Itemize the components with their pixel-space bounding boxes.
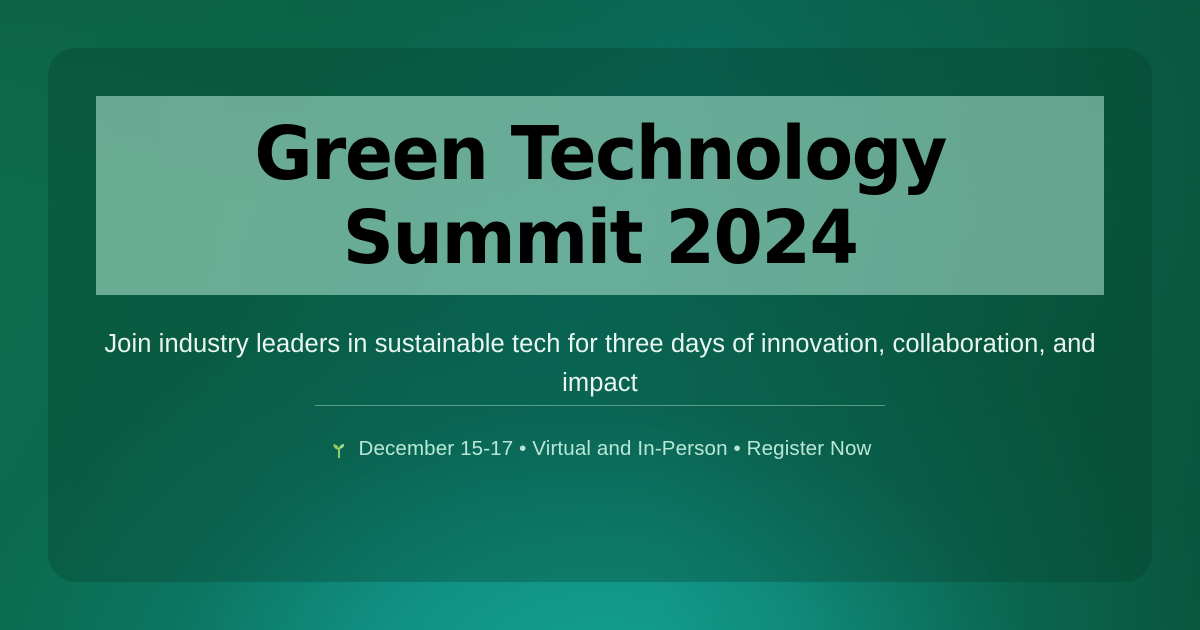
- event-meta-row: December 15-17 • Virtual and In-Person •…: [328, 436, 871, 462]
- title-banner-band: Green Technology Summit 2024: [96, 96, 1104, 295]
- hero-card: Green Technology Summit 2024 Join indust…: [48, 48, 1152, 582]
- event-banner: Green Technology Summit 2024 Join indust…: [0, 0, 1200, 630]
- banner-subtitle: Join industry leaders in sustainable tec…: [95, 325, 1105, 403]
- sprout-icon: [328, 439, 349, 460]
- page-title-line-2: Summit 2024: [343, 196, 858, 280]
- page-title-line-1: Green Technology: [254, 112, 946, 196]
- section-divider: [315, 405, 885, 406]
- event-meta-text: December 15-17 • Virtual and In-Person •…: [358, 436, 871, 462]
